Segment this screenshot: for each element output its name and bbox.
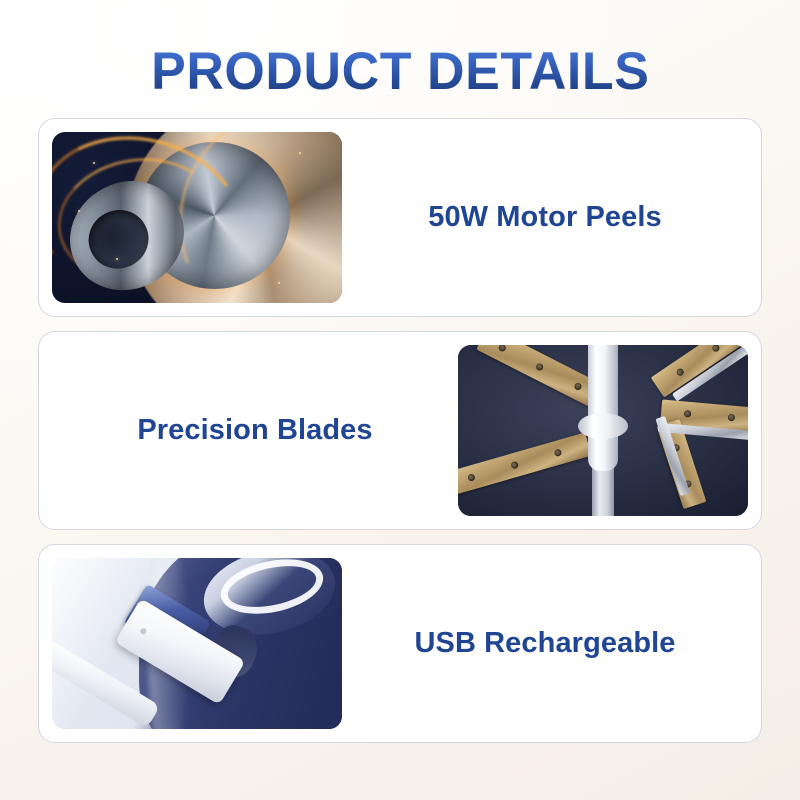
feature-card-motor[interactable]: 50W Motor Peels	[38, 118, 762, 317]
motor-sparkle	[116, 258, 118, 260]
center-post	[588, 345, 618, 472]
feature-card-list: 50W Motor Peels	[0, 118, 800, 743]
blades-image	[458, 345, 748, 516]
post-collar	[578, 413, 628, 439]
feature-card-usb[interactable]: USB Rechargeable	[38, 544, 762, 743]
feature-label-blades: Precision Blades	[52, 413, 458, 448]
page-title: PRODUCT DETAILS	[151, 44, 649, 100]
usb-image	[52, 558, 342, 729]
page-header: PRODUCT DETAILS	[0, 0, 800, 118]
feature-label-usb: USB Rechargeable	[342, 626, 748, 661]
motor-image	[52, 132, 342, 303]
motor-sparkle	[299, 152, 301, 154]
feature-card-blades[interactable]: Precision Blades	[38, 331, 762, 530]
feature-label-motor: 50W Motor Peels	[342, 200, 748, 235]
product-details-page: PRODUCT DETAILS 50W Motor Peels	[0, 0, 800, 800]
